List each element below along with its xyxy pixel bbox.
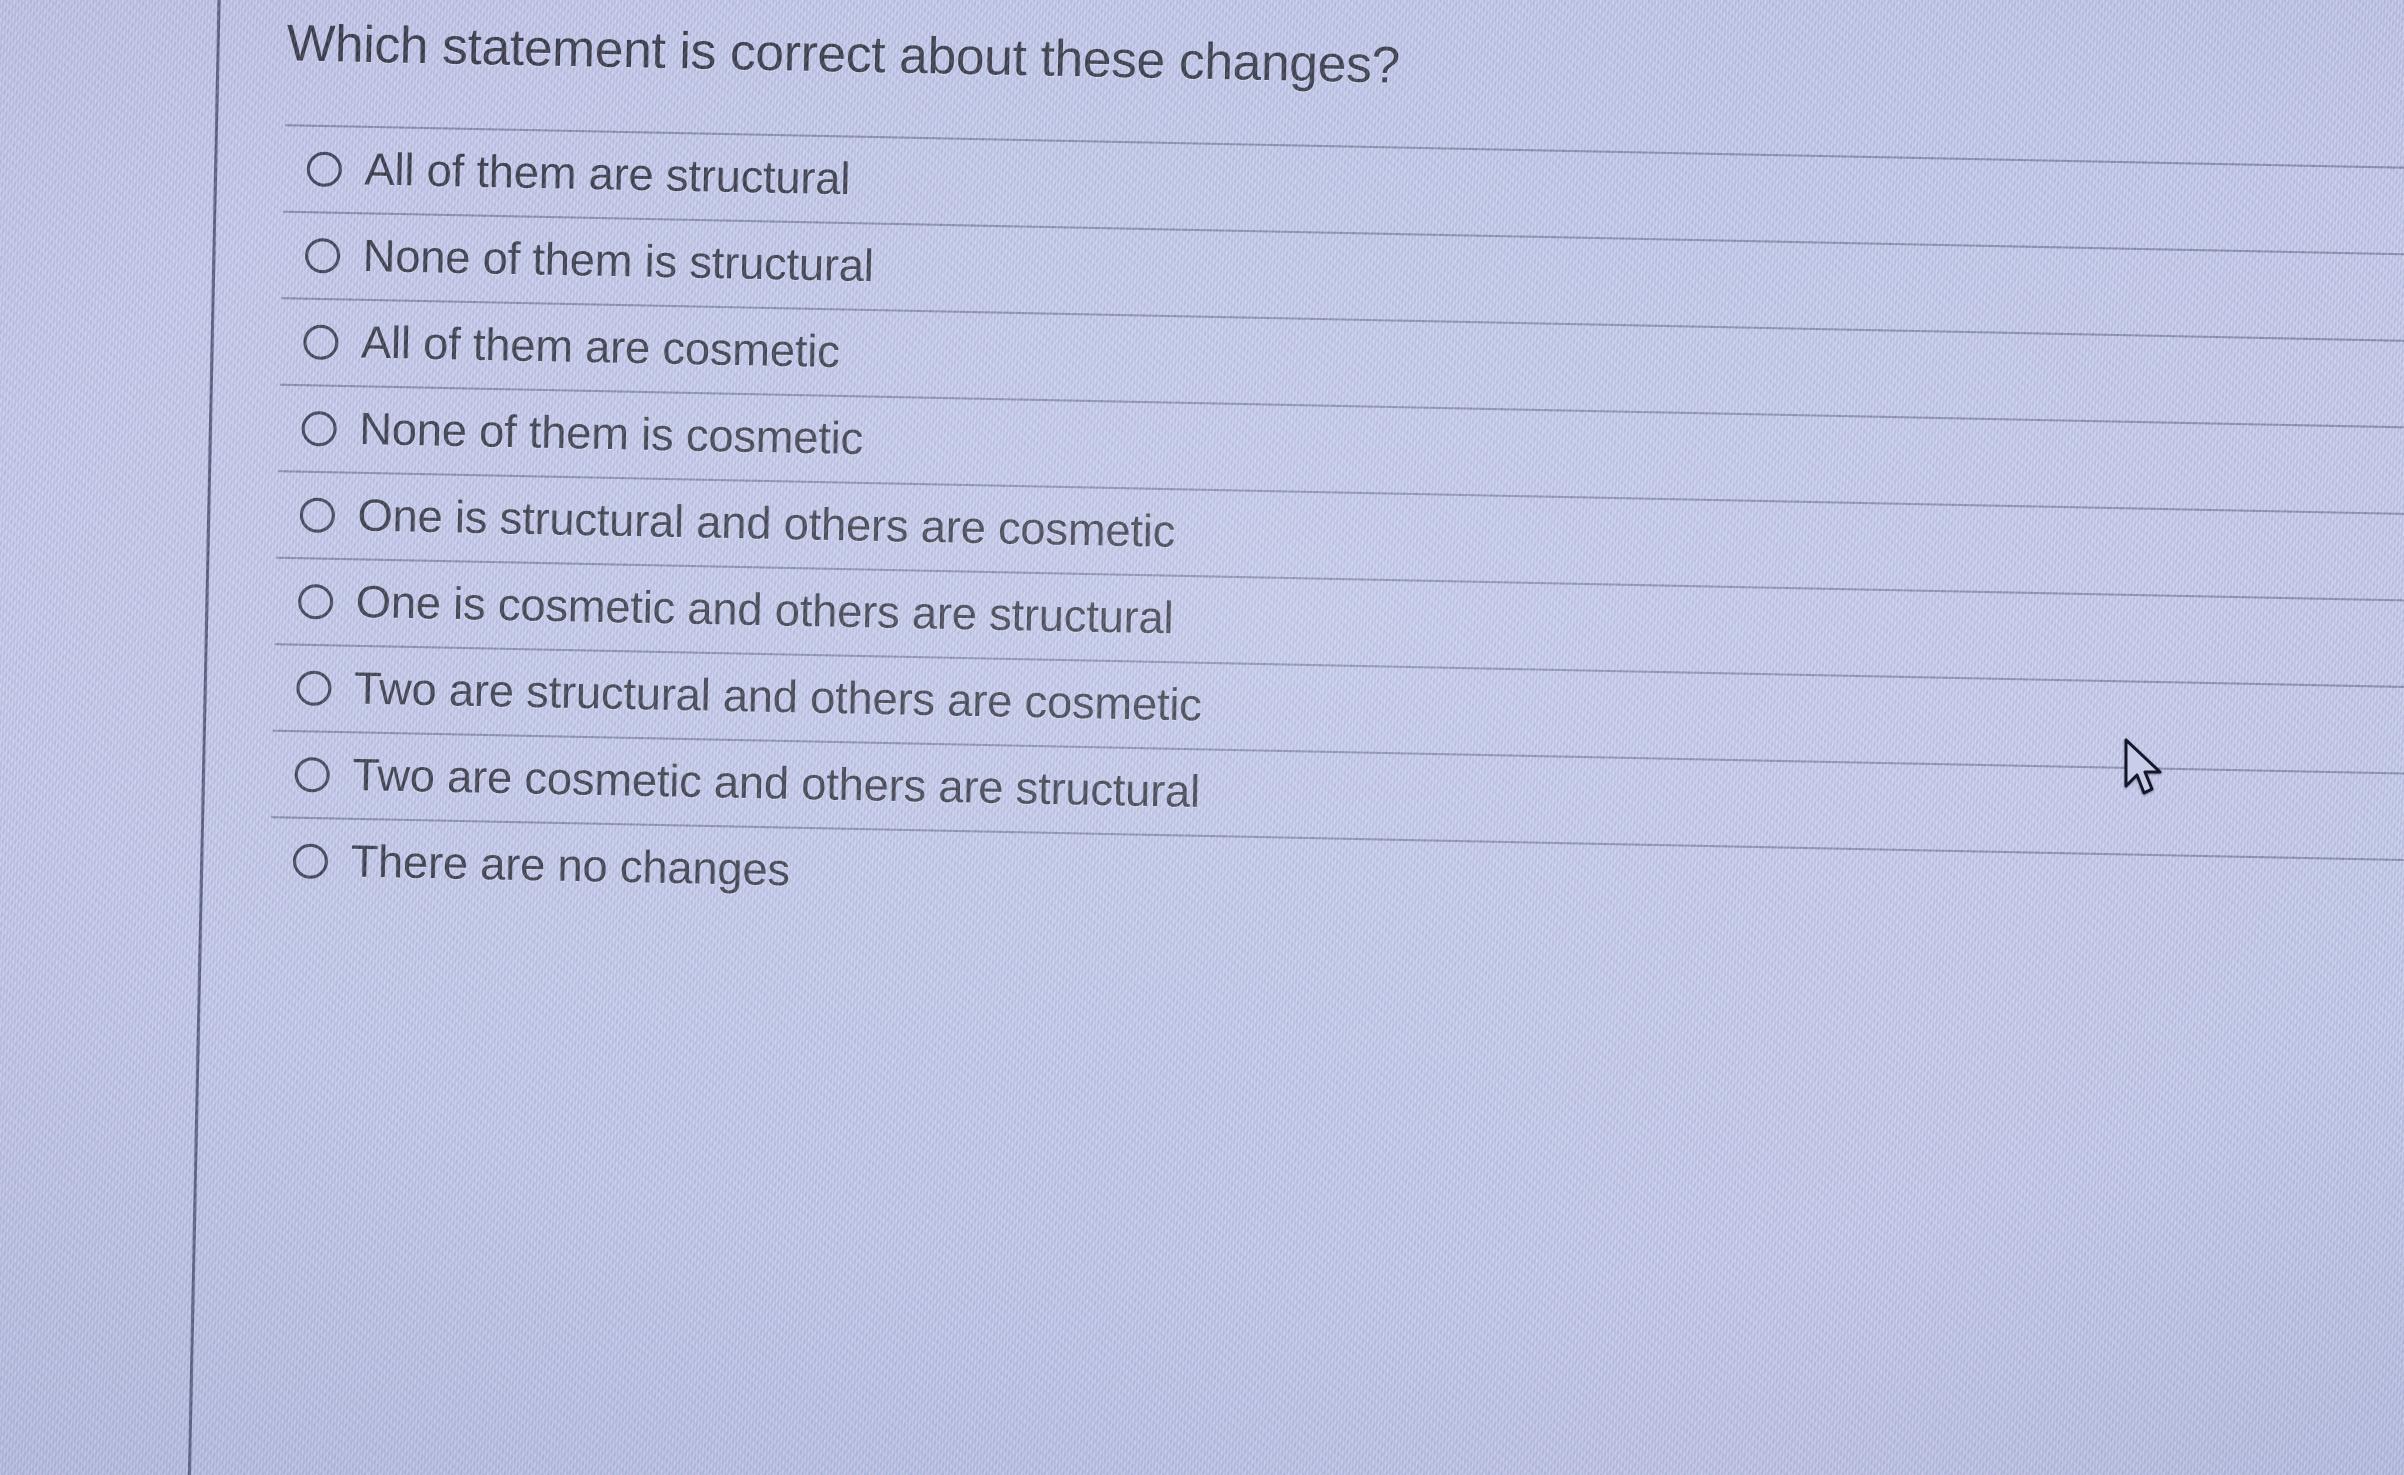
answer-option-label: None of them is cosmetic [359, 404, 864, 466]
radio-button-icon[interactable] [293, 843, 329, 879]
question-prompt: Which statement is correct about these c… [286, 13, 1400, 95]
answer-option-label: None of them is structural [362, 231, 874, 293]
arrow-pointer-cursor [2122, 738, 2168, 800]
answer-option-label: All of them are structural [364, 144, 851, 205]
radio-button-icon[interactable] [301, 411, 337, 447]
radio-button-icon[interactable] [294, 757, 330, 793]
radio-button-icon[interactable] [300, 497, 336, 533]
radio-button-icon[interactable] [298, 584, 334, 620]
quiz-content: Which statement is correct about these c… [288, 0, 2404, 7]
content-left-border [186, 0, 223, 1475]
answer-option-label: There are no changes [350, 836, 790, 896]
radio-button-icon[interactable] [303, 324, 339, 360]
answer-option-label: Two are cosmetic and others are structur… [352, 750, 1201, 819]
answer-option-label: All of them are cosmetic [361, 317, 841, 378]
answer-option-label: One is structural and others are cosmeti… [357, 490, 1176, 558]
radio-button-icon[interactable] [306, 151, 342, 187]
radio-button-icon[interactable] [296, 670, 332, 706]
answer-options-list: All of them are structuralNone of them i… [269, 124, 2404, 950]
radio-button-icon[interactable] [305, 238, 341, 274]
answer-option-label: Two are structural and others are cosmet… [354, 663, 1203, 732]
quiz-screen: Which statement is correct about these c… [0, 0, 2404, 1475]
answer-option-label: One is cosmetic and others are structura… [355, 577, 1174, 645]
screen-photo: Which statement is correct about these c… [0, 0, 2404, 1475]
